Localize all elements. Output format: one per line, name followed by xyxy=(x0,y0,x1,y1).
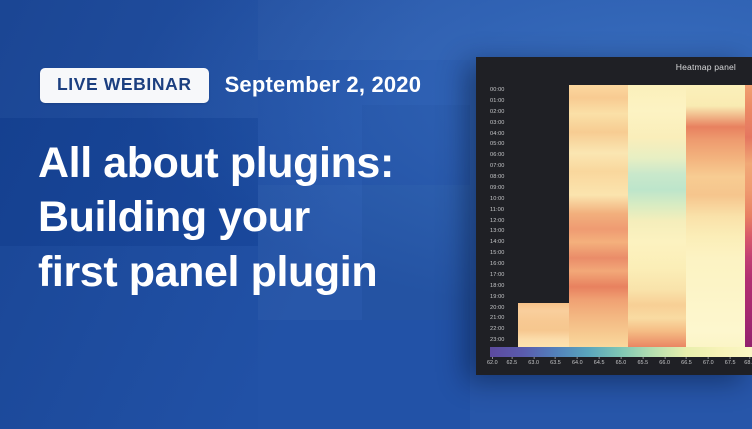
tick-label: 63.0 xyxy=(528,360,539,366)
tick-label: 63.5 xyxy=(550,360,561,366)
panel-title: Heatmap panel xyxy=(676,62,736,72)
tick-mark xyxy=(599,357,600,359)
y-axis-tick: 06:00 xyxy=(490,153,518,159)
headline-line-2: Building your xyxy=(38,190,468,244)
heatmap-cells xyxy=(518,85,752,347)
y-axis-tick: 21:00 xyxy=(490,316,518,322)
color-scale-tick: 62.0 xyxy=(487,357,498,366)
tick-mark xyxy=(492,357,493,359)
webinar-date: September 2, 2020 xyxy=(225,72,422,98)
y-axis-tick: 01:00 xyxy=(490,99,518,105)
heatmap-column xyxy=(745,85,752,347)
y-axis-tick: 18:00 xyxy=(490,284,518,290)
heatmap-column xyxy=(628,85,687,347)
y-axis-tick: 19:00 xyxy=(490,295,518,301)
y-axis-tick: 02:00 xyxy=(490,110,518,116)
headline-line-1: All about plugins: xyxy=(38,136,468,190)
color-scale-tick: 68.0 xyxy=(744,357,752,366)
color-scale-legend: 62.062.563.063.564.064.565.065.566.066.5… xyxy=(490,347,752,369)
y-axis-tick: 10:00 xyxy=(490,197,518,203)
headline-line-3: first panel plugin xyxy=(38,245,468,299)
promo-content: LIVE WEBINAR September 2, 2020 All about… xyxy=(0,0,470,429)
y-axis-tick: 15:00 xyxy=(490,251,518,257)
color-scale-ticks: 62.062.563.063.564.064.565.065.566.066.5… xyxy=(490,357,752,369)
y-axis-tick: 22:00 xyxy=(490,327,518,333)
color-scale-tick: 65.0 xyxy=(616,357,627,366)
color-scale-tick: 63.5 xyxy=(550,357,561,366)
y-axis: 00:0001:0002:0003:0004:0005:0006:0007:00… xyxy=(490,88,518,344)
eyebrow-row: LIVE WEBINAR September 2, 2020 xyxy=(40,68,421,103)
tick-mark xyxy=(730,357,731,359)
tick-label: 62.0 xyxy=(487,360,498,366)
y-axis-tick: 00:00 xyxy=(490,88,518,94)
tick-mark xyxy=(511,357,512,359)
tick-label: 65.5 xyxy=(637,360,648,366)
y-axis-tick: 12:00 xyxy=(490,219,518,225)
tick-mark xyxy=(555,357,556,359)
tick-label: 66.5 xyxy=(681,360,692,366)
tick-mark xyxy=(533,357,534,359)
tick-label: 64.0 xyxy=(572,360,583,366)
y-axis-tick: 16:00 xyxy=(490,262,518,268)
tick-mark xyxy=(708,357,709,359)
tick-mark xyxy=(664,357,665,359)
tick-mark xyxy=(620,357,621,359)
color-scale-bar xyxy=(490,347,752,357)
color-scale-tick: 63.0 xyxy=(528,357,539,366)
live-webinar-badge: LIVE WEBINAR xyxy=(40,68,209,103)
y-axis-tick: 08:00 xyxy=(490,175,518,181)
color-scale-tick: 62.5 xyxy=(506,357,517,366)
tick-label: 67.5 xyxy=(725,360,736,366)
y-axis-tick: 11:00 xyxy=(490,208,518,214)
tick-label: 65.0 xyxy=(616,360,627,366)
page-title: All about plugins: Building your first p… xyxy=(38,136,468,299)
heatmap-panel: Heatmap panel 00:0001:0002:0003:0004:000… xyxy=(476,57,752,375)
y-axis-tick: 04:00 xyxy=(490,132,518,138)
y-axis-tick: 09:00 xyxy=(490,186,518,192)
tick-mark xyxy=(686,357,687,359)
heatmap-column xyxy=(569,85,628,347)
color-scale-tick: 64.5 xyxy=(594,357,605,366)
y-axis-tick: 17:00 xyxy=(490,273,518,279)
y-axis-tick: 05:00 xyxy=(490,142,518,148)
heatmap-column xyxy=(518,303,569,347)
tick-mark xyxy=(642,357,643,359)
color-scale-tick: 67.0 xyxy=(703,357,714,366)
heatmap-plot: 00:0001:0002:0003:0004:0005:0006:0007:00… xyxy=(490,71,752,382)
tick-label: 68.0 xyxy=(744,360,752,366)
tick-mark xyxy=(577,357,578,359)
color-scale-tick: 65.5 xyxy=(637,357,648,366)
tick-label: 67.0 xyxy=(703,360,714,366)
color-scale-tick: 66.0 xyxy=(659,357,670,366)
heatmap-column xyxy=(686,85,745,347)
y-axis-tick: 13:00 xyxy=(490,229,518,235)
tick-label: 66.0 xyxy=(659,360,670,366)
promo-banner: LIVE WEBINAR September 2, 2020 All about… xyxy=(0,0,752,429)
tick-label: 62.5 xyxy=(506,360,517,366)
y-axis-tick: 07:00 xyxy=(490,164,518,170)
color-scale-tick: 66.5 xyxy=(681,357,692,366)
y-axis-tick: 14:00 xyxy=(490,240,518,246)
y-axis-tick: 03:00 xyxy=(490,121,518,127)
tick-mark xyxy=(749,357,750,359)
color-scale-tick: 64.0 xyxy=(572,357,583,366)
tick-label: 64.5 xyxy=(594,360,605,366)
y-axis-tick: 23:00 xyxy=(490,338,518,344)
color-scale-tick: 67.5 xyxy=(725,357,736,366)
y-axis-tick: 20:00 xyxy=(490,306,518,312)
